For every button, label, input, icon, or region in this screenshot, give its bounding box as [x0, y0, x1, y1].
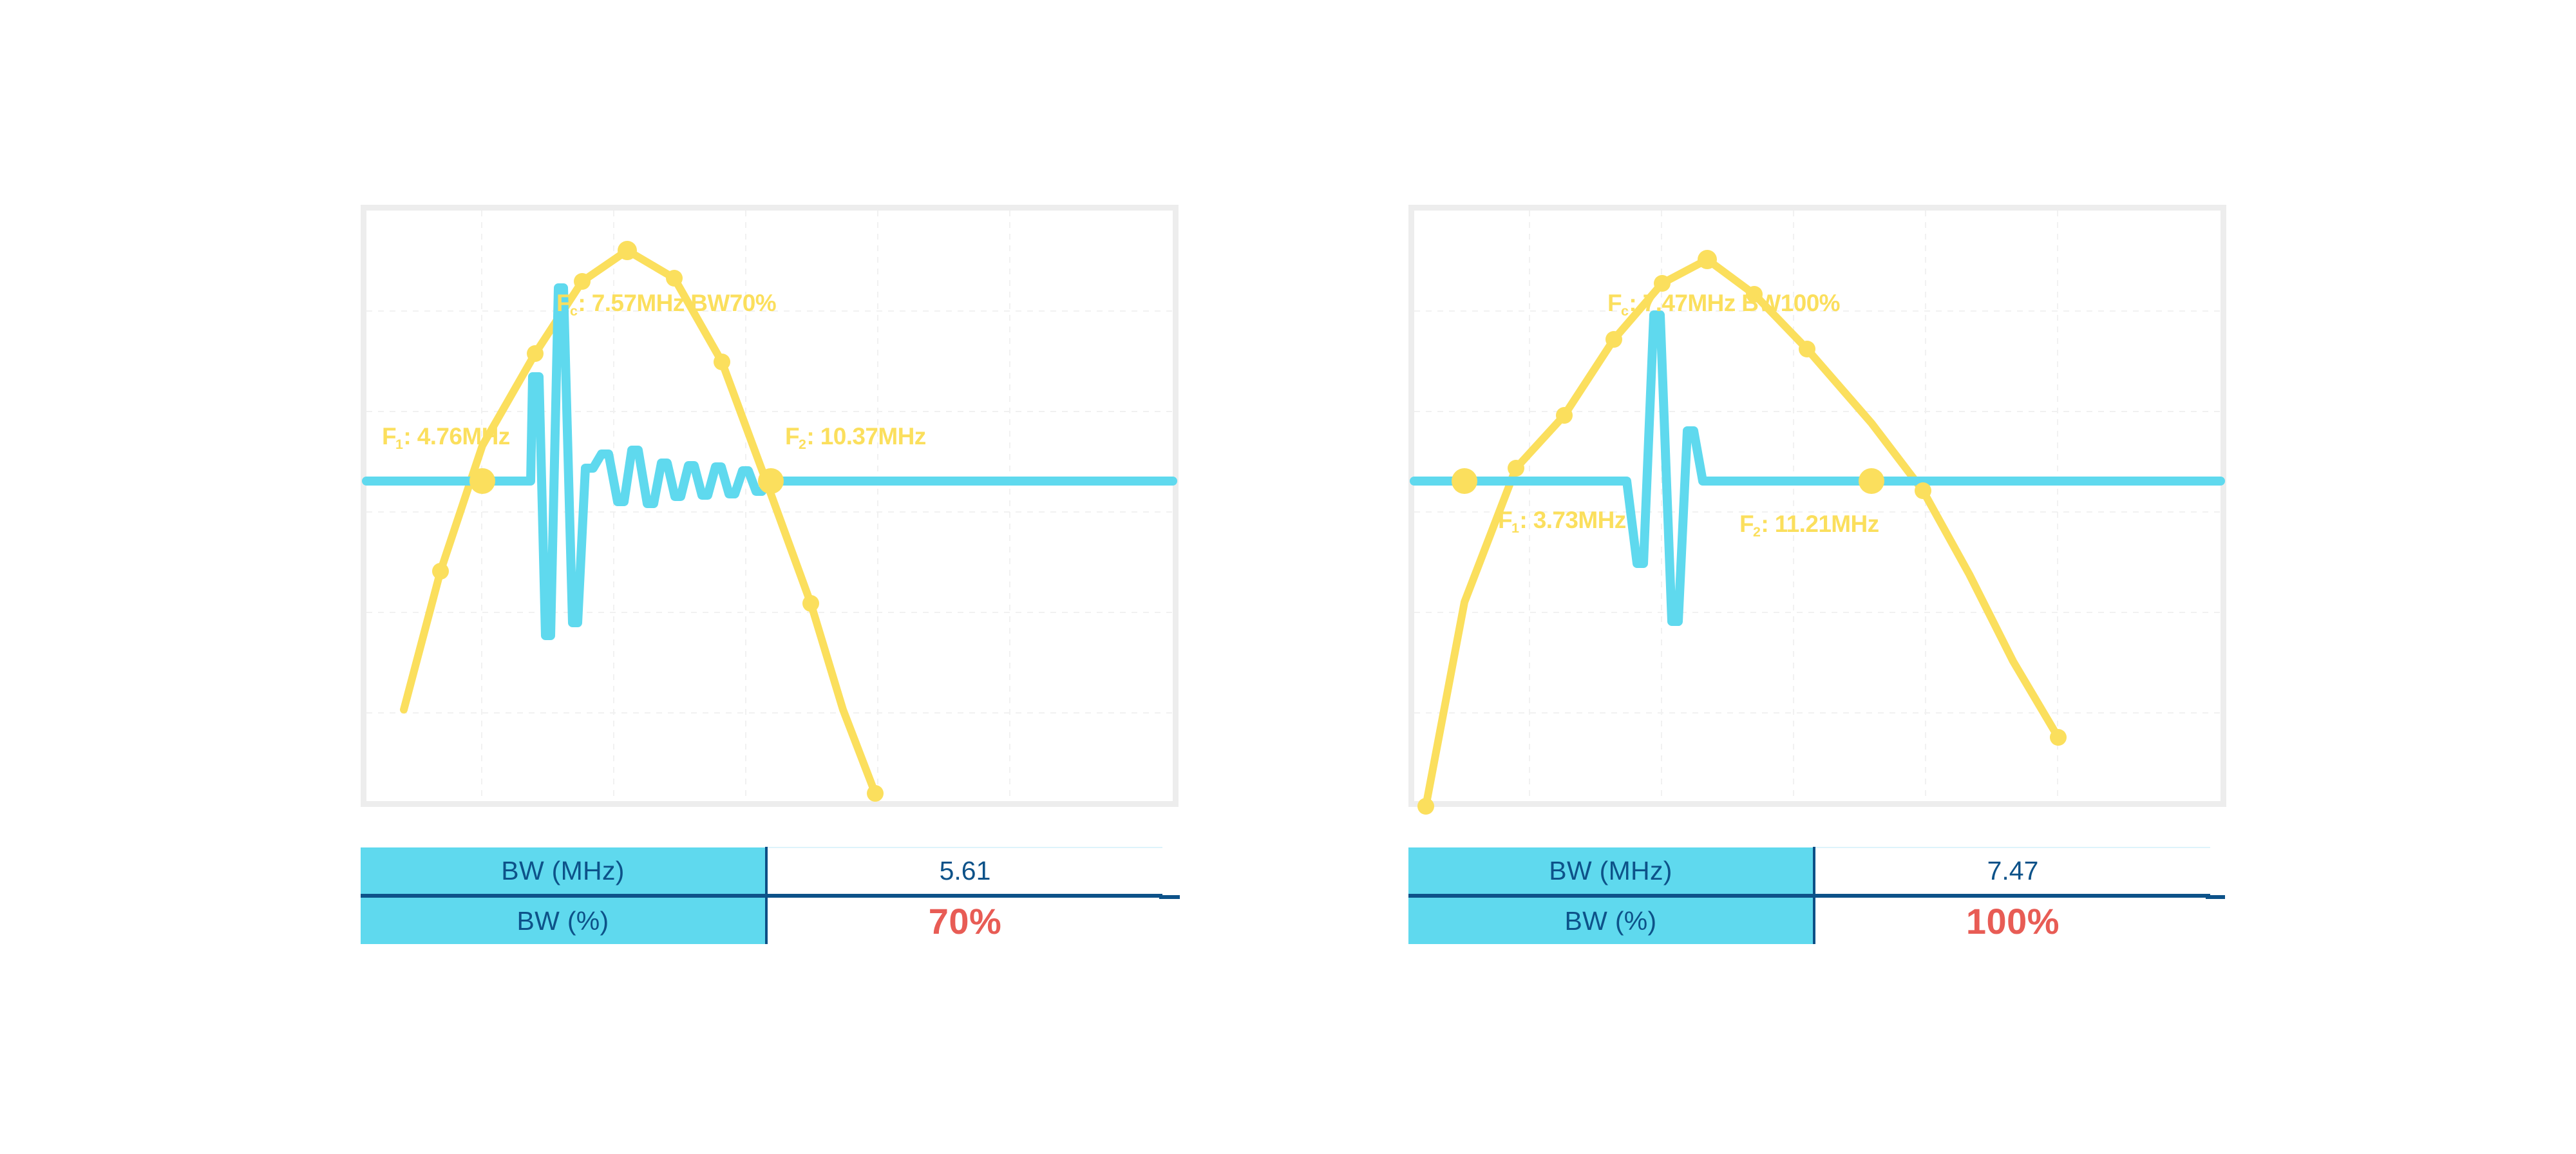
- annotation-f2-right-prefix: F: [1739, 511, 1754, 537]
- bw-mhz-value-left: 5.61: [766, 847, 1162, 896]
- annotation-fc-left-sub: c: [570, 303, 577, 319]
- annotation-f1-left-prefix: F: [382, 423, 396, 449]
- bw-mhz-header-left: BW (MHz): [361, 847, 766, 896]
- annotation-f1-right-text: : 3.73MHz: [1519, 507, 1625, 533]
- annotation-f1-left: F1: 4.76MHz: [382, 424, 510, 448]
- annotation-f2-right-text: : 11.21MHz: [1761, 511, 1879, 537]
- table-row: BW (%) 100%: [1408, 896, 2210, 944]
- annotation-f2-left: F2: 10.37MHz: [785, 424, 926, 448]
- annotation-f2-right-sub: 2: [1753, 524, 1760, 540]
- annotation-fc-right-text: : 7.47MHz BW100%: [1629, 290, 1840, 316]
- spectrum-curve-left: [404, 251, 875, 793]
- annotation-f2-left-text: : 10.37MHz: [806, 423, 925, 449]
- pulse-waveform-left: [366, 288, 1173, 636]
- annotation-f1-left-sub: 1: [395, 437, 402, 452]
- annotation-f1-right: F1: 3.73MHz: [1498, 508, 1626, 532]
- spectrum-markers-left: [432, 241, 884, 802]
- annotation-fc-left-prefix: F: [556, 290, 571, 316]
- table-row: BW (MHz) 7.47: [1408, 847, 2210, 896]
- chart-left: Fc: 7.57MHz BW70% F1: 4.76MHz F2: 10.37M…: [361, 205, 1179, 807]
- table-divider-extension-right: [2206, 895, 2225, 899]
- bw-pct-header-right: BW (%): [1408, 896, 1814, 944]
- annotation-f2-right: F2: 11.21MHz: [1739, 512, 1879, 536]
- bw-pct-value-right: 100%: [1814, 896, 2210, 944]
- annotation-fc-left-text: : 7.57MHz BW70%: [578, 290, 776, 316]
- annotation-f1-right-sub: 1: [1511, 520, 1519, 536]
- annotation-fc-right-sub: c: [1621, 303, 1628, 319]
- annotation-f2-left-prefix: F: [785, 423, 799, 449]
- annotation-fc-left: Fc: 7.57MHz BW70%: [556, 291, 776, 315]
- table-row: BW (%) 70%: [361, 896, 1162, 944]
- table-divider-extension-left: [1159, 895, 1180, 899]
- bw-mhz-header-right: BW (MHz): [1408, 847, 1814, 896]
- annotation-f2-left-sub: 2: [799, 437, 806, 452]
- bw-pct-header-left: BW (%): [361, 896, 766, 944]
- annotation-fc-right-prefix: F: [1607, 290, 1622, 316]
- annotation-f1-left-text: : 4.76MHz: [403, 423, 509, 449]
- bw-mhz-value-right: 7.47: [1814, 847, 2210, 896]
- bw-table-left: BW (MHz) 5.61 BW (%) 70%: [361, 847, 1162, 944]
- chart-right: Fc: 7.47MHz BW100% F1: 3.73MHz F2: 11.21…: [1408, 205, 2226, 807]
- bw-table-right: BW (MHz) 7.47 BW (%) 100%: [1408, 847, 2210, 944]
- bw-pct-value-left: 70%: [766, 896, 1162, 944]
- table-row: BW (MHz) 5.61: [361, 847, 1162, 896]
- annotation-f1-right-prefix: F: [1498, 507, 1512, 533]
- annotation-fc-right: Fc: 7.47MHz BW100%: [1607, 291, 1840, 315]
